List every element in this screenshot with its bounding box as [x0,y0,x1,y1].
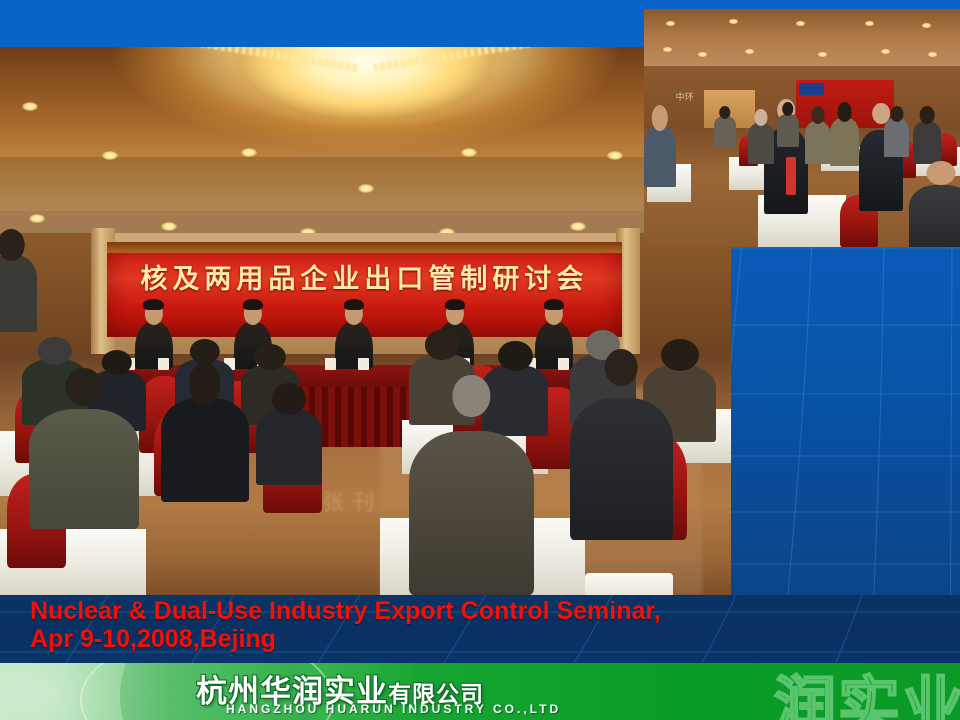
company-footer-band: 润实业 杭州华润实业有限公司 HANGZHOU HUARUN INDUSTRY … [0,663,960,720]
banner-rail [107,242,622,254]
audience-person [570,398,672,540]
audience-person [482,365,548,436]
projection-screen [799,83,824,95]
audience-person [256,409,322,486]
audience-person [161,398,249,502]
necktie [786,157,795,195]
attendee [748,123,773,163]
slide-title-bar: Nuclear & Dual-Use Industry Export Contr… [0,595,960,663]
audience-person [29,409,139,530]
attendee [777,114,799,147]
attendee [714,116,736,147]
attendee-foreground [909,185,960,247]
page-title: Nuclear & Dual-Use Industry Export Contr… [30,597,661,653]
banner-text: 核及两用品企业出口管制研讨会 [107,257,622,296]
slide-root: 核及两用品企业出口管制研讨会 形张刊 [0,0,960,720]
company-name-en: HANGZHOU HUARUN INDUSTRY CO.,LTD [226,702,561,716]
company-watermark: 润实业 [774,663,960,720]
photographer [0,255,37,332]
attendee [830,118,858,166]
top-blue-strip [0,0,645,47]
attendee [805,121,830,164]
wall-logo-text: 中环 [676,90,717,107]
attendee [644,126,676,188]
ceiling [644,9,960,71]
photo-attendees: 中环 [644,9,960,247]
chandelier-icon [186,47,546,155]
photo-conference-hall: 核及两用品企业出口管制研讨会 形张刊 [0,47,731,595]
attendee [913,121,941,164]
audience-person [409,431,533,595]
attendee [884,118,909,156]
cup-on-table [585,573,673,595]
